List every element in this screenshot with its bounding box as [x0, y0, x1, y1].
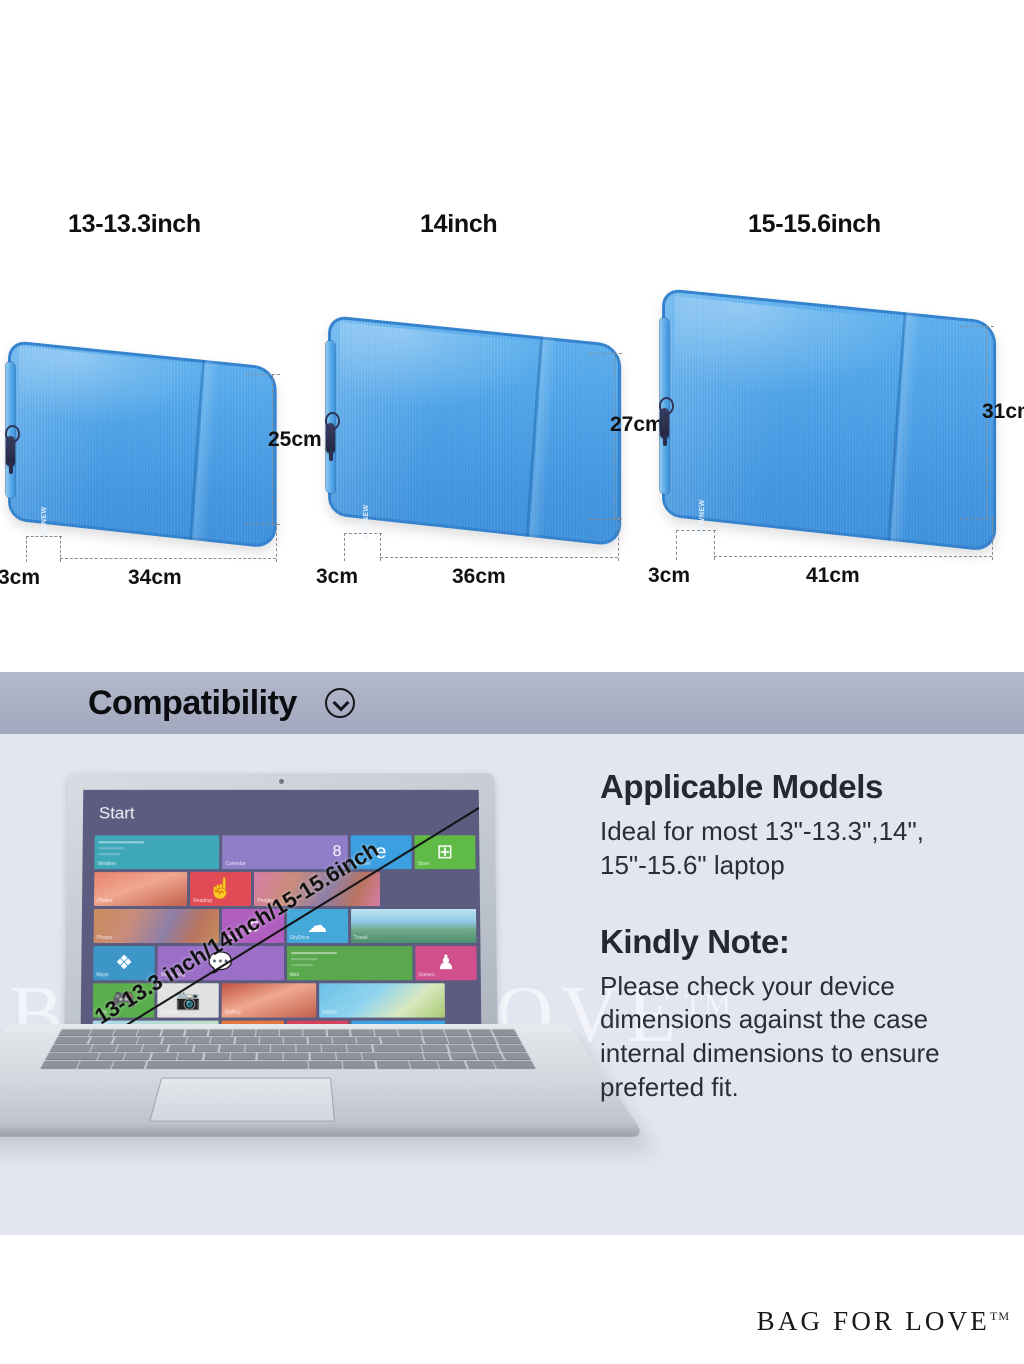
keyboard-row — [41, 1061, 535, 1068]
keyboard-key[interactable] — [41, 1061, 79, 1068]
keyboard-key[interactable] — [284, 1053, 309, 1060]
bag-body-13inch — [8, 340, 277, 549]
start-tile[interactable]: Mail — [287, 946, 413, 980]
keyboard-key[interactable] — [211, 1037, 235, 1043]
keyboard-key[interactable] — [322, 1045, 347, 1052]
keyboard-key[interactable] — [347, 1045, 372, 1052]
keyboard-key[interactable] — [409, 1061, 438, 1068]
keyboard-key[interactable] — [88, 1037, 114, 1043]
tile-text-line — [99, 853, 121, 855]
keyboard-key[interactable] — [46, 1053, 99, 1060]
keyboard-key[interactable] — [447, 1045, 474, 1052]
keyboard-key[interactable] — [381, 1037, 424, 1043]
tile-caption: Games — [418, 972, 434, 978]
keyboard-key[interactable] — [336, 1053, 362, 1060]
keyboard-key[interactable] — [473, 1045, 500, 1052]
keyboard-key[interactable] — [502, 1053, 530, 1060]
bag-title-15inch: 15-15.6inch — [748, 210, 881, 239]
keyboard-key[interactable] — [137, 1037, 162, 1043]
tile-caption: Photos — [97, 898, 113, 904]
keyboard-key[interactable] — [280, 1030, 302, 1036]
tile-caption: Nature — [322, 1009, 337, 1015]
tile-glyph-icon: ♟ — [437, 953, 455, 973]
keyboard-key[interactable] — [468, 1030, 493, 1036]
keyboard-key[interactable] — [78, 1061, 113, 1068]
start-tile[interactable]: ⊞Store — [414, 835, 475, 869]
keyboard-key[interactable] — [260, 1037, 283, 1043]
tile-text-line — [291, 958, 317, 960]
bag-height-label-15inch: 31cm — [982, 400, 1024, 424]
tile-caption: Maps — [96, 972, 108, 978]
keyboard-key[interactable] — [231, 1053, 257, 1060]
keyboard-key[interactable] — [50, 1045, 92, 1052]
keyboard-key[interactable] — [256, 1030, 279, 1036]
tile-caption: Calendar — [225, 861, 245, 867]
keyboard-key[interactable] — [168, 1045, 194, 1052]
applicable-models-body: Ideal for most 13"-13.3",14", 15"-15.6" … — [600, 815, 1000, 883]
keyboard-key[interactable] — [161, 1030, 185, 1036]
tile-caption: Travel — [354, 935, 368, 941]
bag-width-label-15inch: 41cm — [806, 564, 860, 588]
keyboard-key[interactable] — [146, 1061, 308, 1068]
keyboard-key[interactable] — [232, 1030, 255, 1036]
webcam-icon — [279, 779, 284, 784]
laptop-deck — [0, 1024, 646, 1137]
tile-caption: Store — [417, 861, 429, 867]
tile-glyph-icon: ☝ — [208, 879, 233, 899]
keyboard-key[interactable] — [466, 1061, 496, 1068]
keyboard-key[interactable] — [204, 1053, 230, 1060]
windows-tile-grid: Weather8CalendareInternet⊞StorePhotos☝Re… — [92, 835, 477, 1032]
keyboard-key[interactable] — [271, 1045, 295, 1052]
brand-logo: BAG FOR LOVETM — [757, 1306, 1010, 1337]
keyboard-key[interactable] — [304, 1030, 327, 1036]
keyboard-row — [55, 1037, 522, 1043]
tile-caption: Mail — [290, 972, 299, 978]
keyboard-key[interactable] — [297, 1045, 321, 1052]
keyboard-key[interactable] — [151, 1053, 178, 1060]
keyboard-key[interactable] — [219, 1045, 244, 1052]
compatibility-panel: Compatibility BAG FOR LOVETM Start Weath… — [0, 672, 1024, 1235]
bag-zipper-pull-14inch — [326, 423, 335, 453]
keyboard-key[interactable] — [447, 1037, 472, 1043]
keyboard-row — [59, 1030, 517, 1036]
tile-caption: Reading — [193, 898, 212, 904]
tile-caption: Gallery — [225, 1009, 241, 1015]
laptop-keyboard — [39, 1029, 537, 1070]
keyboard-key[interactable] — [437, 1061, 466, 1068]
bag-group-14inch: NEWNEW 27cm 36cm 3cm — [318, 305, 638, 581]
keyboard-key[interactable] — [55, 1037, 90, 1043]
applicable-models-heading: Applicable Models — [600, 768, 1000, 806]
keyboard-key[interactable] — [177, 1053, 203, 1060]
brand-logo-trademark: TM — [990, 1309, 1010, 1323]
keyboard-key[interactable] — [494, 1061, 535, 1068]
bag-zipper-pull-13inch — [6, 436, 15, 466]
keyboard-key[interactable] — [351, 1030, 374, 1036]
bag-body-14inch — [328, 315, 621, 547]
tile-glyph-icon: ❖ — [115, 953, 133, 973]
bag-group-13inch: NEWNEW 25cm 34cm 3cm — [0, 330, 300, 580]
bag-zipper-pull-15inch — [660, 408, 669, 438]
bag-depth-label-13inch: 3cm — [0, 566, 40, 590]
keyboard-key[interactable] — [113, 1030, 138, 1036]
laptop-illustration: Start Weather8CalendareInternet⊞StorePho… — [8, 772, 568, 1202]
keyboard-key[interactable] — [116, 1045, 143, 1052]
keyboard-key[interactable] — [59, 1030, 91, 1036]
bag-depth-label-15inch: 3cm — [648, 564, 690, 588]
keyboard-key[interactable] — [257, 1053, 282, 1060]
keyboard-key[interactable] — [423, 1053, 450, 1060]
keyboard-key[interactable] — [476, 1053, 504, 1060]
keyboard-row — [50, 1045, 525, 1052]
keyboard-key[interactable] — [310, 1053, 335, 1060]
keyboard-key[interactable] — [186, 1037, 210, 1043]
keyboard-key[interactable] — [374, 1030, 398, 1036]
keyboard-key[interactable] — [445, 1030, 470, 1036]
start-screen-label: Start — [99, 804, 135, 824]
keyboard-key[interactable] — [137, 1030, 161, 1036]
laptop-trackpad — [149, 1078, 335, 1122]
tile-caption: SkyDrive — [290, 935, 310, 941]
start-tile[interactable]: ☝Reading — [190, 872, 251, 906]
start-tile[interactable]: ☁SkyDrive — [287, 909, 348, 943]
bag-brand-tag-14inch: NEWNEW — [363, 504, 370, 540]
keyboard-key[interactable] — [194, 1045, 219, 1052]
keyboard-key[interactable] — [98, 1053, 126, 1060]
bag-width-label-13inch: 34cm — [128, 566, 182, 590]
tile-text-line — [291, 952, 337, 954]
start-tile[interactable]: Photos — [94, 872, 187, 906]
tile-caption: Photos — [97, 935, 113, 941]
keyboard-key[interactable] — [308, 1037, 331, 1043]
size-comparison-section: 13-13.3inch 14inch 15-15.6inch NEWNEW 25… — [0, 0, 1024, 660]
brand-logo-text: BAG FOR LOVE — [757, 1306, 990, 1336]
keyboard-key[interactable] — [185, 1030, 209, 1036]
keyboard-key[interactable] — [373, 1045, 423, 1052]
keyboard-key[interactable] — [356, 1037, 380, 1043]
tile-caption: Camera — [160, 1009, 178, 1015]
keyboard-key[interactable] — [91, 1045, 118, 1052]
kindly-note-heading: Kindly Note: — [600, 923, 1000, 961]
tile-text-line — [99, 847, 125, 849]
keyboard-key[interactable] — [235, 1037, 258, 1043]
keyboard-key[interactable] — [492, 1030, 517, 1036]
start-tile[interactable]: Photos — [94, 909, 220, 943]
keyboard-key[interactable] — [245, 1045, 270, 1052]
keyboard-key[interactable] — [89, 1030, 114, 1036]
bag-depth-label-14inch: 3cm — [316, 565, 358, 589]
keyboard-key[interactable] — [495, 1037, 521, 1043]
chevron-down-circle-icon[interactable] — [325, 688, 355, 718]
keyboard-key[interactable] — [342, 1061, 375, 1068]
compatibility-text-column: Applicable Models Ideal for most 13"-13.… — [600, 768, 1000, 1105]
compatibility-header: Compatibility — [0, 672, 1024, 734]
bag-title-14inch: 14inch — [420, 210, 497, 239]
keyboard-key[interactable] — [284, 1037, 307, 1043]
bag-width-label-14inch: 36cm — [452, 565, 506, 589]
keyboard-key[interactable] — [113, 1037, 138, 1043]
keyboard-key[interactable] — [471, 1037, 497, 1043]
keyboard-key[interactable] — [327, 1030, 350, 1036]
laptop-base — [8, 1024, 568, 1154]
keyboard-key[interactable] — [449, 1053, 477, 1060]
start-tile[interactable]: Travel — [351, 909, 477, 943]
kindly-note-body: Please check your device dimensions agai… — [600, 970, 1000, 1105]
tile-text-line — [291, 964, 313, 966]
tile-text-line — [99, 841, 145, 843]
keyboard-key[interactable] — [423, 1037, 448, 1043]
keyboard-row — [46, 1053, 530, 1060]
keyboard-key[interactable] — [422, 1045, 448, 1052]
tile-caption: Weather — [97, 861, 116, 867]
keyboard-key[interactable] — [398, 1030, 422, 1036]
keyboard-key[interactable] — [142, 1045, 168, 1052]
bag-height-label-13inch: 25cm — [268, 428, 322, 452]
tile-glyph-icon: ⊞ — [436, 842, 453, 862]
start-tile[interactable]: Gallery — [222, 983, 316, 1017]
bag-title-13inch: 13-13.3inch — [68, 210, 201, 239]
tile-glyph-icon: ☁ — [307, 916, 327, 936]
keyboard-key[interactable] — [162, 1037, 187, 1043]
start-tile[interactable]: Nature — [319, 983, 445, 1017]
keyboard-key[interactable] — [498, 1045, 526, 1052]
keyboard-key[interactable] — [309, 1061, 342, 1068]
keyboard-key[interactable] — [376, 1061, 410, 1068]
keyboard-key[interactable] — [124, 1053, 151, 1060]
keyboard-key[interactable] — [209, 1030, 232, 1036]
keyboard-key[interactable] — [362, 1053, 423, 1060]
keyboard-key[interactable] — [332, 1037, 356, 1043]
bag-body-15inch — [662, 288, 996, 552]
keyboard-key[interactable] — [112, 1061, 147, 1068]
bag-group-15inch: NEWNEW 31cm 41cm 3cm — [650, 278, 1024, 580]
start-tile[interactable]: ♟Games — [415, 946, 477, 980]
start-tile[interactable]: Weather — [94, 835, 219, 869]
keyboard-key[interactable] — [421, 1030, 445, 1036]
compatibility-title: Compatibility — [88, 684, 297, 723]
tile-glyph-icon: 📷 — [176, 990, 201, 1010]
